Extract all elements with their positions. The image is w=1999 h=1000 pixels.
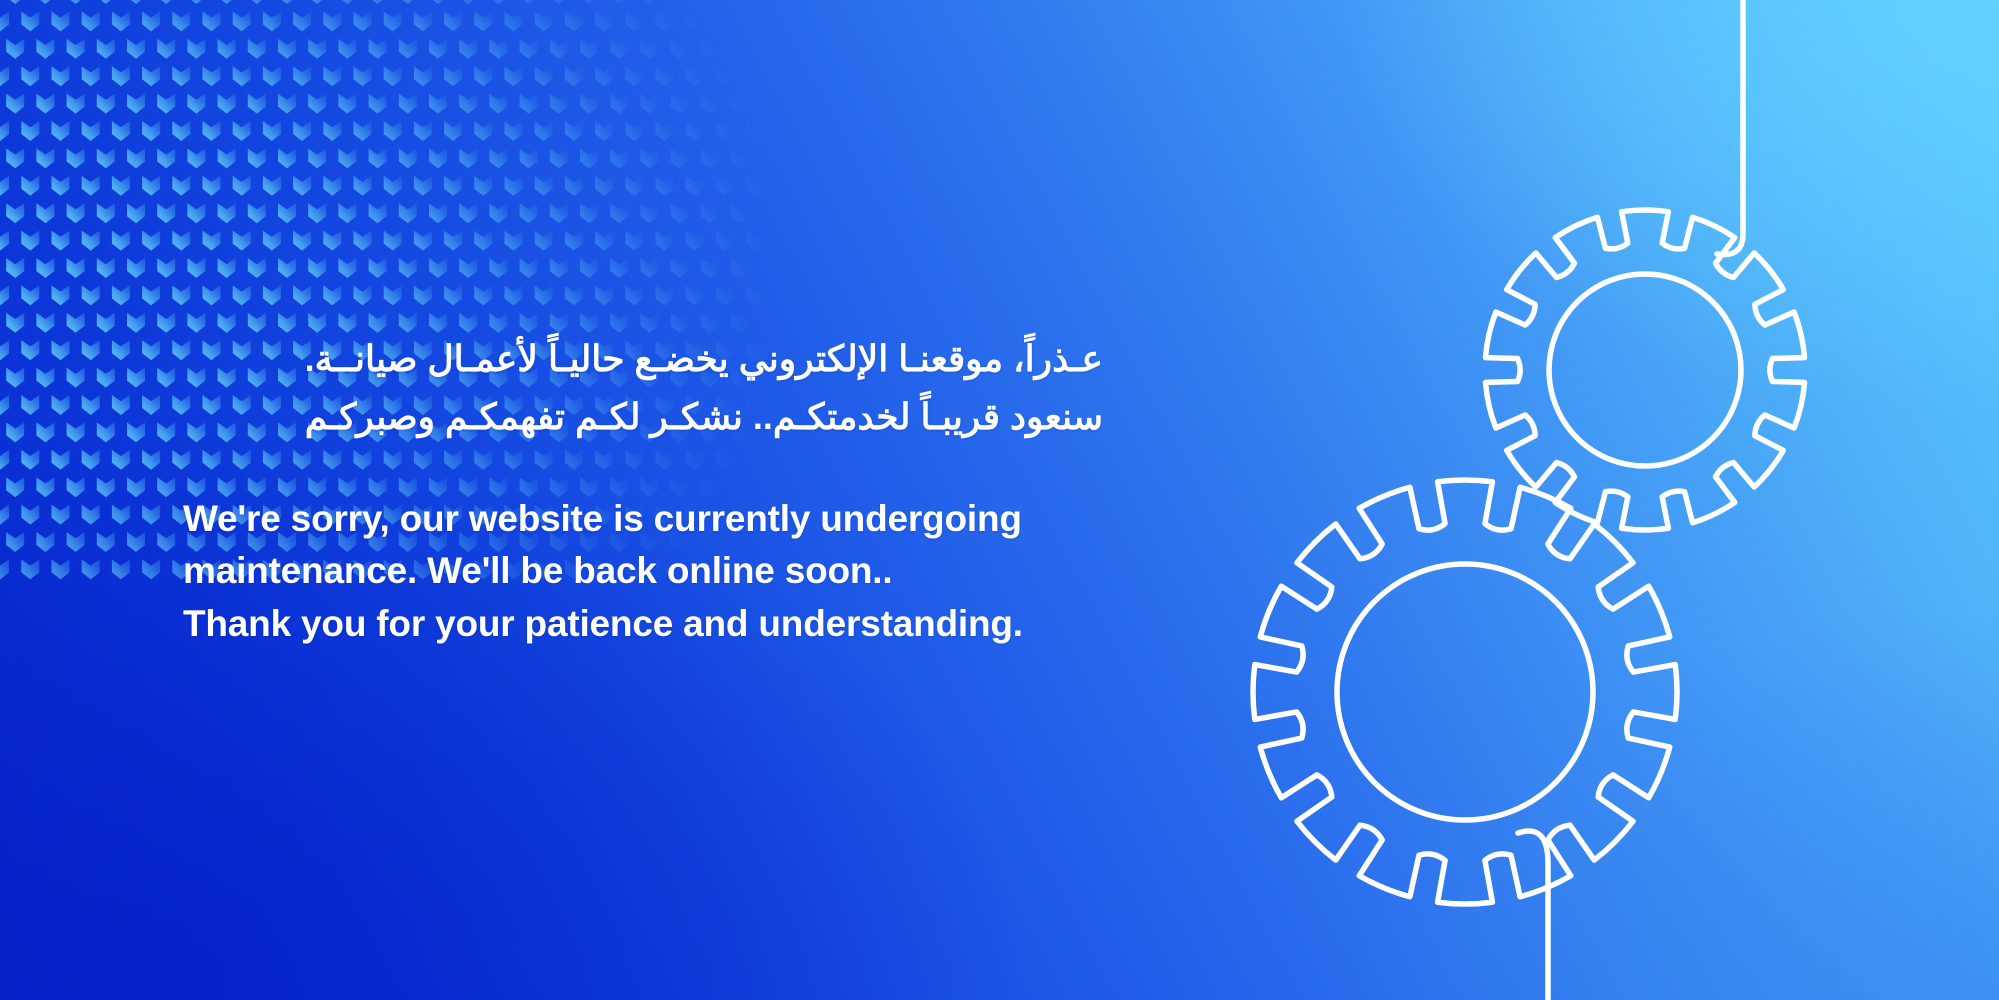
gear-large: [1253, 480, 1677, 904]
gear-large-hub: [1337, 564, 1593, 820]
gear-small-hub: [1549, 274, 1741, 466]
english-line-2: maintenance. We'll be back online soon..: [183, 545, 1183, 598]
arabic-line-2: سنعود قريبـاً لخدمتكـم.. نشكـر لكـم تفهم…: [183, 388, 1103, 446]
connector-line-bottom: [1518, 831, 1548, 1000]
english-line-3: Thank you for your patience and understa…: [183, 598, 1183, 651]
english-message: We're sorry, our website is currently un…: [183, 493, 1183, 651]
english-line-1: We're sorry, our website is currently un…: [183, 493, 1183, 546]
arabic-line-1: عـذراً، موقعنـا الإلكتروني يخضـع حاليـاً…: [183, 330, 1103, 388]
maintenance-page: عـذراً، موقعنـا الإلكتروني يخضـع حاليـاً…: [0, 0, 1999, 1000]
gear-small: [1485, 210, 1804, 530]
message-block: عـذراً، موقعنـا الإلكتروني يخضـع حاليـاً…: [183, 330, 1183, 650]
arabic-message: عـذراً، موقعنـا الإلكتروني يخضـع حاليـاً…: [183, 330, 1103, 447]
connector-line-top: [1717, 0, 1743, 255]
